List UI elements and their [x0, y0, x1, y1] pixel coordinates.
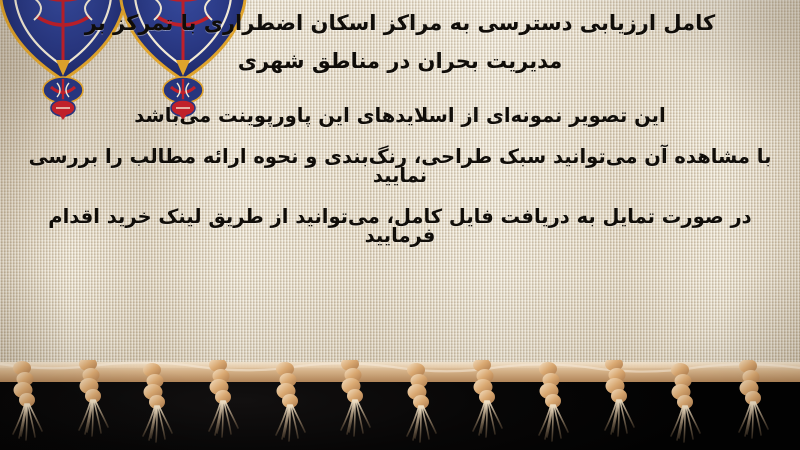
slide-body: این تصویر نمونه‌ای از اسلایدهای این پاور… [0, 106, 800, 246]
body-line-2: با مشاهده آن می‌توانید سبک طراحی، رنگ‌بن… [24, 147, 776, 186]
black-background-ground [0, 368, 800, 450]
slide-canvas: کامل ارزیابی دسترسی به مراکز اسکان اضطرا… [0, 0, 800, 450]
title-line-1: کامل ارزیابی دسترسی به مراکز اسکان اضطرا… [18, 4, 782, 42]
slide-title: کامل ارزیابی دسترسی به مراکز اسکان اضطرا… [0, 4, 800, 80]
title-line-2: مدیریت بحران در مناطق شهری [18, 42, 782, 80]
body-line-3: در صورت تمایل به دریافت فایل کامل، می‌تو… [24, 207, 776, 246]
body-line-1: این تصویر نمونه‌ای از اسلایدهای این پاور… [24, 106, 776, 126]
slide-text-layer: کامل ارزیابی دسترسی به مراکز اسکان اضطرا… [0, 0, 800, 382]
